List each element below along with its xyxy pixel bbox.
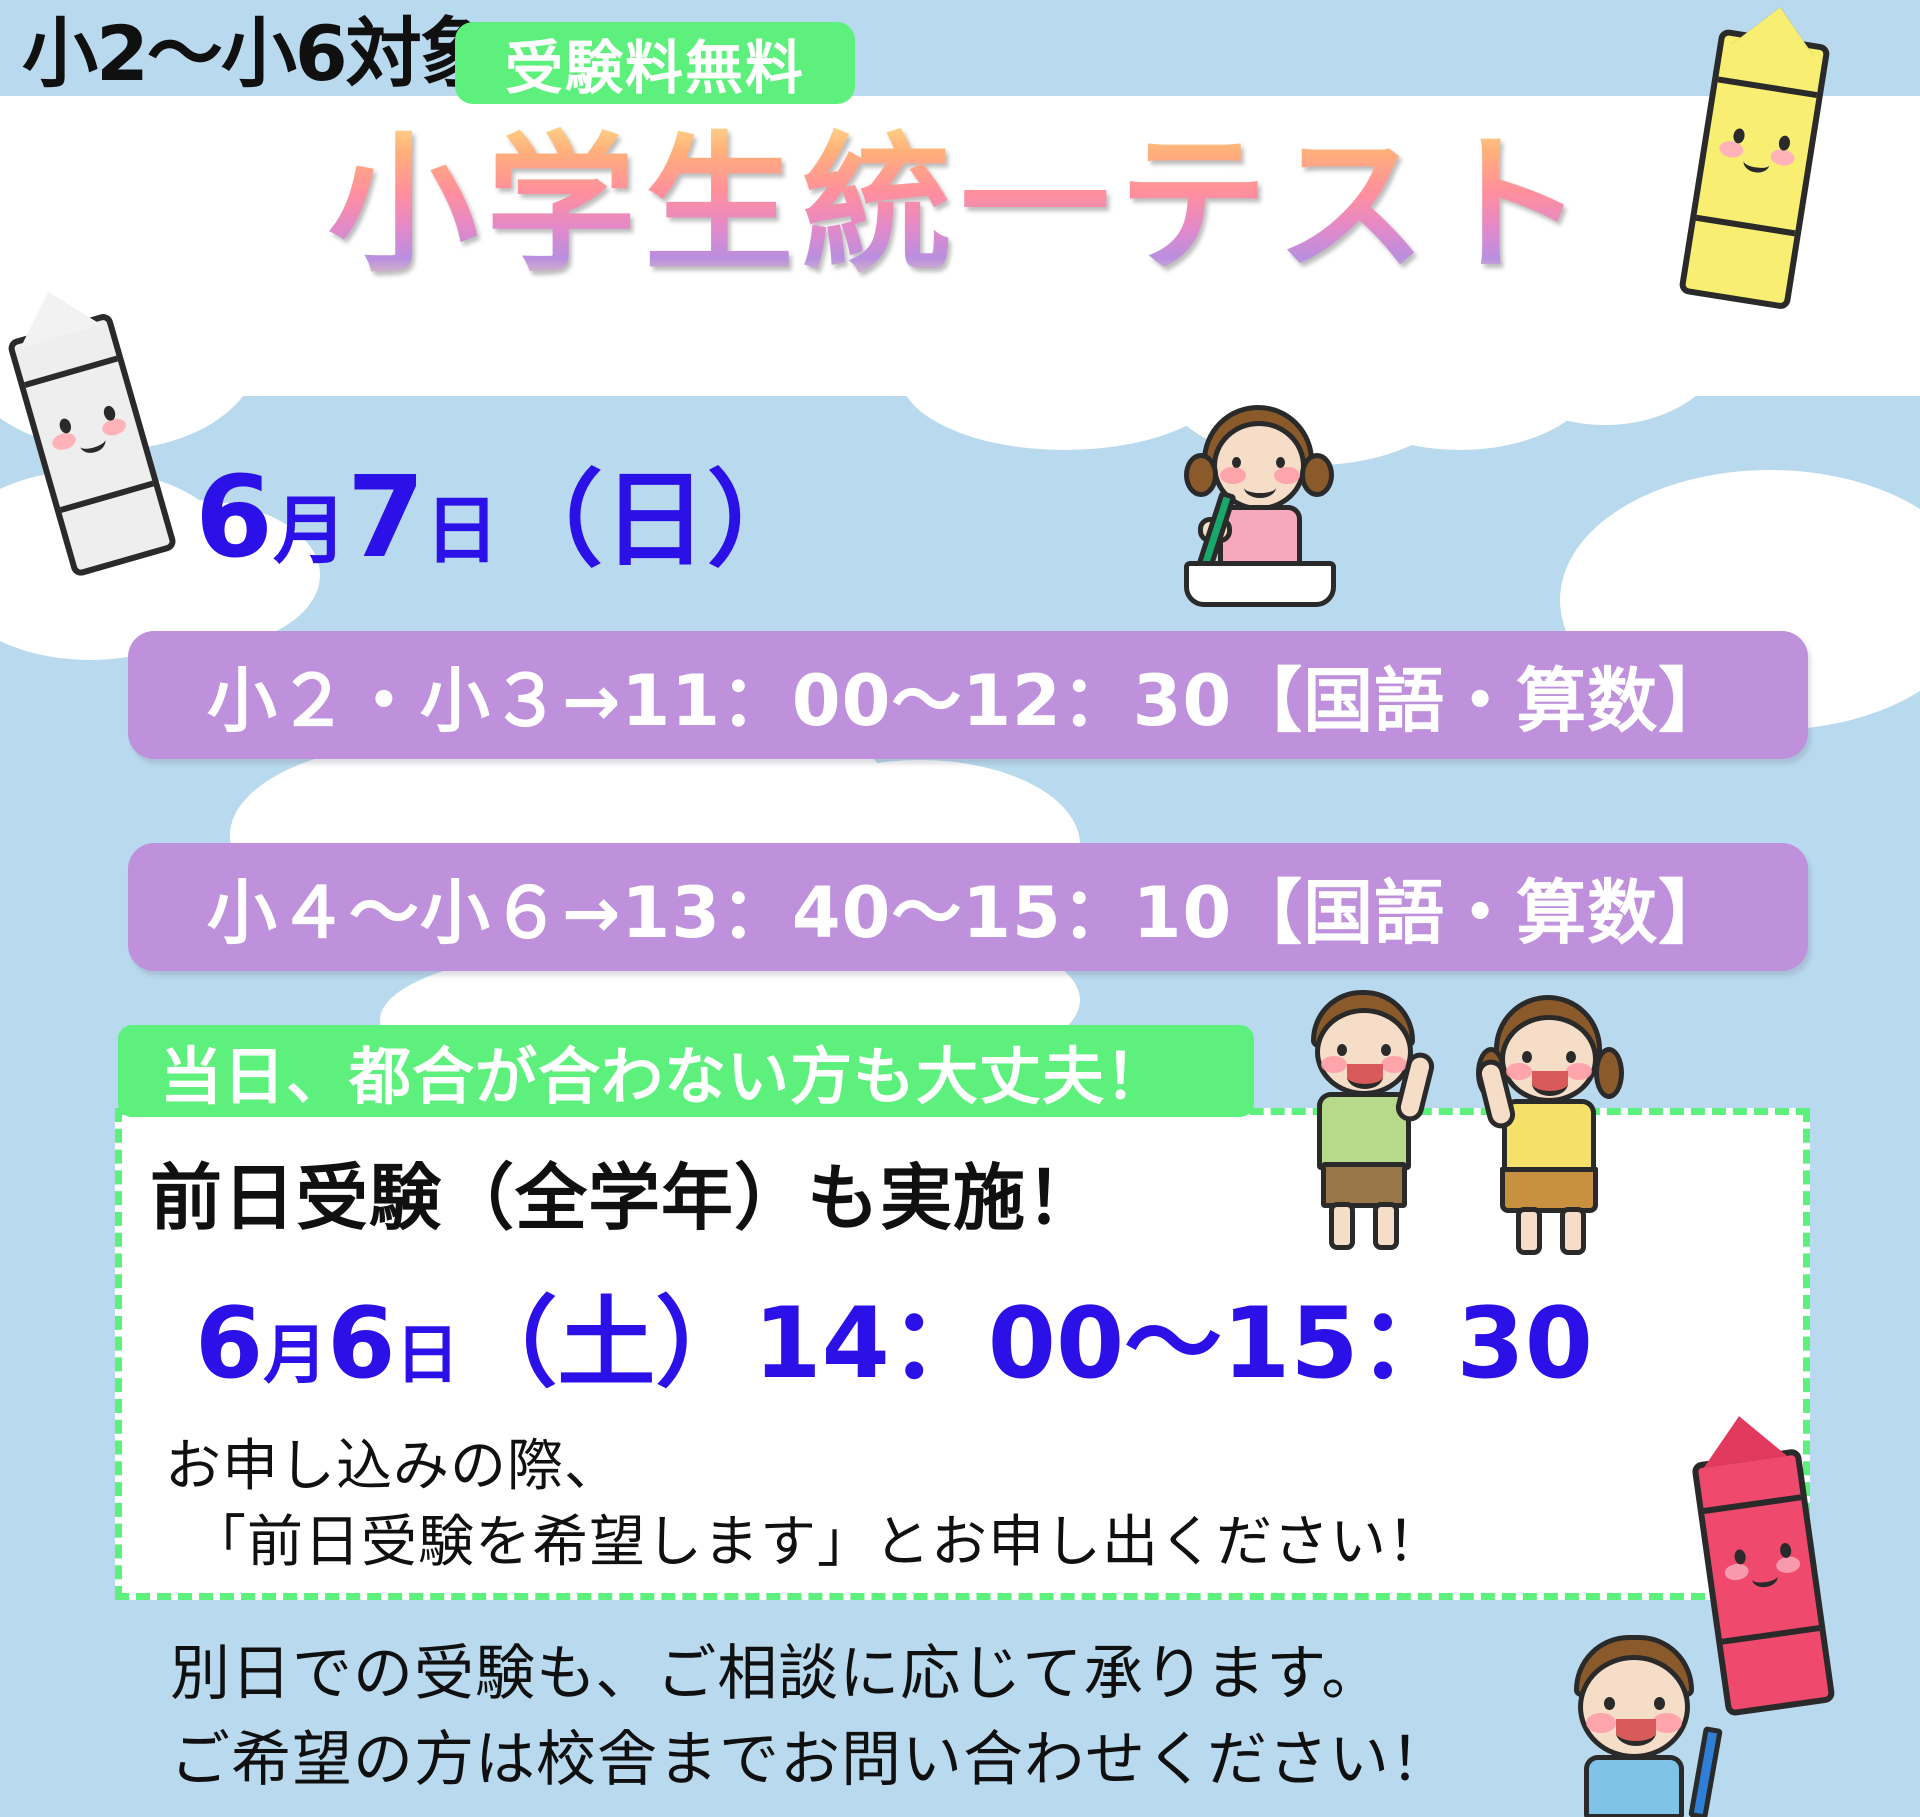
boy2-shirt (1584, 1755, 1684, 1817)
crayon-white-cheek-right (100, 416, 127, 438)
boy-shorts (1321, 1162, 1407, 1208)
boy2-cheek-left (1586, 1713, 1616, 1733)
event-date-day-unit: 日 (425, 488, 499, 574)
girl-peace-illustration (1470, 995, 1640, 1260)
footer-line-2: ご希望の方は校舎までお問い合わせください！ (170, 1724, 1451, 1796)
boy-mouth (1347, 1064, 1383, 1089)
event-date: 6月7日（日） (195, 462, 811, 574)
free-exam-badge-label: 受験料無料 (505, 21, 805, 105)
alt-date-month-number: 6 (195, 1287, 263, 1401)
alt-date-time: 14：00〜15：30 (753, 1287, 1593, 1401)
alt-session-headline: 前日受験（全学年）も実施！ (150, 1162, 1099, 1234)
girl2-eye-left (1522, 1051, 1532, 1063)
crayon-yellow-mouth (1742, 152, 1771, 175)
girl2-mouth (1532, 1071, 1568, 1096)
boy-leg-right (1373, 1202, 1399, 1250)
poster-root: 小2〜小6対象 受験料無料 小学生統一テスト 6月7日（日） 小２・小３→11：… (0, 0, 1920, 1817)
alt-session-banner-label: 当日、都合が合わない方も大丈夫！ (160, 1026, 1168, 1116)
boy2-eye-right (1654, 1697, 1665, 1710)
alt-date-day-number: 6 (327, 1287, 395, 1401)
girl2-shirt (1502, 1099, 1596, 1175)
boy-eye-right (1381, 1044, 1391, 1056)
crayon-pink-mouth (1751, 1566, 1779, 1588)
girl-writing-illustration (1170, 405, 1350, 610)
footer-line-1: 別日での受験も、ご相談に応じて承ります。 (170, 1638, 1382, 1710)
boy2-pencil (1688, 1726, 1723, 1817)
crayon-white-cheek-left (50, 430, 77, 452)
girl-cheek-left (1220, 467, 1246, 484)
boy2-eye-left (1604, 1697, 1615, 1710)
alt-session-note-1: お申し込みの際、 (165, 1432, 621, 1502)
girl-pigtail-right (1300, 453, 1334, 497)
girl2-leg-left (1516, 1207, 1542, 1255)
alt-session-banner: 当日、都合が合わない方も大丈夫！ (118, 1025, 1254, 1117)
girl-eye-right (1276, 457, 1285, 468)
boy-peace-illustration (1285, 990, 1455, 1255)
page-title: 小学生統一テスト (328, 120, 1592, 293)
girl-eye-left (1232, 457, 1241, 468)
girl-cheek-right (1274, 467, 1300, 484)
alt-date-month-unit: 月 (263, 1319, 327, 1393)
alt-session-note-2: 「前日受験を希望します」とお申し出ください！ (190, 1508, 1444, 1578)
boy-with-pencil-illustration (1540, 1635, 1740, 1817)
boy-cheek-right (1381, 1056, 1407, 1073)
schedule-bar-upper-grades-text: 小４〜小６→13：40〜15：10【国語・算数】 (207, 857, 1729, 958)
girl2-cheek-left (1506, 1063, 1532, 1080)
event-date-month-unit: 月 (273, 488, 347, 574)
alt-date-day-unit: 日 (395, 1319, 459, 1393)
schedule-bar-lower-grades: 小２・小３→11：00〜12：30【国語・算数】 (128, 631, 1808, 759)
boy-eye-left (1337, 1044, 1347, 1056)
crayon-yellow-eye-left (1732, 128, 1745, 145)
boy-leg-left (1329, 1202, 1355, 1250)
alt-session-date: 6月6日（土）14：00〜15：30 (195, 1295, 1593, 1393)
girl-mouth (1244, 477, 1276, 498)
boy2-cheek-right (1652, 1713, 1682, 1733)
crayon-yellow-cheek-right (1770, 148, 1796, 168)
boy-cheek-left (1321, 1056, 1347, 1073)
girl-open-book (1184, 561, 1336, 607)
free-exam-badge: 受験料無料 (455, 22, 855, 104)
girl2-leg-right (1560, 1207, 1586, 1255)
girl2-cheek-right (1566, 1063, 1592, 1080)
target-grade-label: 小2〜小6対象 (22, 16, 494, 92)
alt-date-weekday: （土） (459, 1287, 753, 1401)
main-title-wrap: 小学生統一テスト (0, 120, 1920, 320)
boy2-mouth (1616, 1719, 1656, 1746)
crayon-white-mouth (77, 430, 107, 455)
event-date-weekday: （日） (499, 459, 811, 581)
crayon-pink-cheek-right (1775, 1555, 1801, 1574)
crayon-yellow-eye-right (1778, 135, 1791, 152)
girl-pigtail-left (1184, 453, 1218, 497)
crayon-pink-cheek-left (1724, 1562, 1750, 1581)
girl2-eye-right (1566, 1051, 1576, 1063)
crayon-white-eye-left (58, 417, 73, 434)
girl2-skirt (1500, 1167, 1598, 1213)
crayon-pink-eye-left (1734, 1549, 1747, 1565)
header-row: 小2〜小6対象 受験料無料 (0, 0, 1920, 130)
schedule-bar-upper-grades: 小４〜小６→13：40〜15：10【国語・算数】 (128, 843, 1808, 971)
schedule-bar-lower-grades-text: 小２・小３→11：00〜12：30【国語・算数】 (207, 645, 1729, 746)
event-date-month-number: 6 (195, 453, 273, 583)
girl2-pigtail-right (1594, 1047, 1624, 1099)
event-date-day-number: 7 (347, 453, 425, 583)
